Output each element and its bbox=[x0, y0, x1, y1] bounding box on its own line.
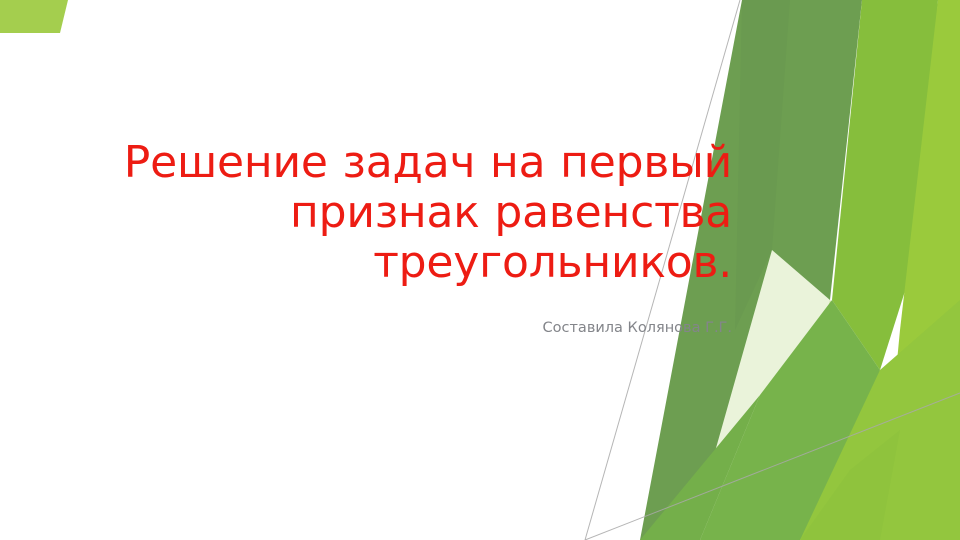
slide-subtitle[interactable]: Составила Колянова Г.Г. bbox=[96, 320, 732, 337]
slide-text-layer: Решение задач на первый признак равенств… bbox=[0, 0, 960, 540]
slide-canvas: Решение задач на первый признак равенств… bbox=[0, 0, 960, 540]
subtitle-placeholder[interactable]: Составила Колянова Г.Г. bbox=[96, 320, 732, 337]
page-title[interactable]: Решение задач на первый признак равенств… bbox=[96, 138, 732, 288]
title-placeholder[interactable]: Решение задач на первый признак равенств… bbox=[96, 138, 732, 288]
